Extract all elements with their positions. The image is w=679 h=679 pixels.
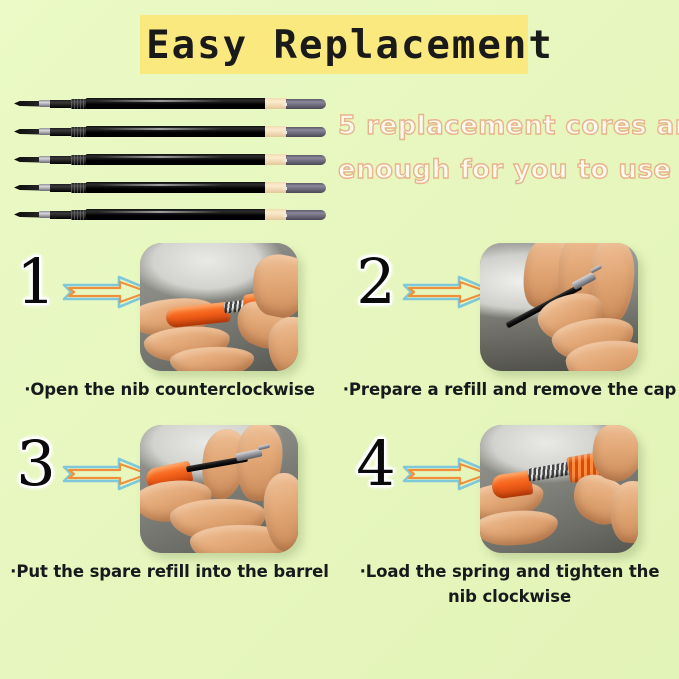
step-4-caption-line-2: nib clockwise [340, 584, 679, 609]
refill-cap [286, 99, 326, 109]
refill-tip-icon [14, 212, 40, 218]
refill-cap [286, 127, 326, 137]
step-2-caption-line-1: ·Prepare a refill and remove the cap [340, 377, 679, 402]
step-3-photo [140, 425, 298, 553]
step-1-number: 1 [8, 251, 64, 313]
refill-barrel [86, 209, 266, 220]
refill-neck [50, 128, 72, 136]
step-3-caption-line-1: ·Put the spare refill into the barrel [0, 559, 339, 584]
refill-barrel [86, 154, 266, 165]
refill-cap [286, 210, 326, 220]
step-3: 3 [0, 425, 339, 555]
step-1-photo [140, 243, 298, 371]
step-1-row: 1 [0, 243, 339, 373]
step-3-caption: ·Put the spare refill into the barrel [0, 559, 339, 584]
refill-cap [286, 183, 326, 193]
refill-pen [14, 154, 326, 165]
step-3-number: 3 [8, 433, 64, 495]
refill-knurl [71, 210, 87, 220]
step-4-photo-scene [480, 425, 638, 553]
refill-knurl [71, 183, 87, 193]
step-1-caption-line-1: ·Open the nib counterclockwise [0, 377, 339, 402]
step-4-photo [480, 425, 638, 553]
refill-barrel [86, 182, 266, 193]
refill-knurl [71, 127, 87, 137]
refill-pen [14, 182, 326, 193]
step-1-photo-scene [140, 243, 298, 371]
step-2-photo-scene [480, 243, 638, 371]
refill-neck [50, 184, 72, 192]
step-4-caption-line-1: ·Load the spring and tighten the [340, 559, 679, 584]
infographic-root: Easy Replacement [0, 0, 679, 679]
step-1: 1 [0, 243, 339, 373]
refill-knurl [71, 99, 87, 109]
step-1-caption: ·Open the nib counterclockwise [0, 377, 339, 402]
refill-tip-icon [14, 157, 40, 163]
subtitle: 5 replacement cores are enough for you t… [338, 104, 674, 192]
refill-neck [50, 211, 72, 219]
step-4-caption: ·Load the spring and tighten the nib clo… [340, 559, 679, 609]
refill-pen [14, 209, 326, 220]
step-3-photo-scene [140, 425, 298, 553]
step-2-row: 2 [340, 243, 679, 373]
refill-pen [14, 98, 326, 109]
step-2-caption: ·Prepare a refill and remove the cap [340, 377, 679, 402]
refill-cap [286, 155, 326, 165]
refill-knurl [71, 155, 87, 165]
step-4: 4 [340, 425, 679, 555]
refill-tip-icon [14, 101, 40, 107]
subtitle-line-2: enough for you to use hen [338, 148, 674, 192]
step-4-number: 4 [348, 433, 404, 495]
refill-barrel [86, 98, 266, 109]
subtitle-line-1: 5 replacement cores are [338, 104, 674, 148]
refill-neck [50, 156, 72, 164]
refill-tip-icon [14, 185, 40, 191]
page-title: Easy Replacement [140, 18, 560, 73]
refill-tip-icon [14, 129, 40, 135]
step-2: 2 [340, 243, 679, 373]
refill-pen [14, 126, 326, 137]
step-2-number: 2 [348, 251, 404, 313]
step-3-row: 3 [0, 425, 339, 555]
refill-barrel [86, 126, 266, 137]
refill-pens-illustration [14, 98, 326, 220]
refill-neck [50, 100, 72, 108]
step-4-row: 4 [340, 425, 679, 555]
step-2-photo [480, 243, 638, 371]
